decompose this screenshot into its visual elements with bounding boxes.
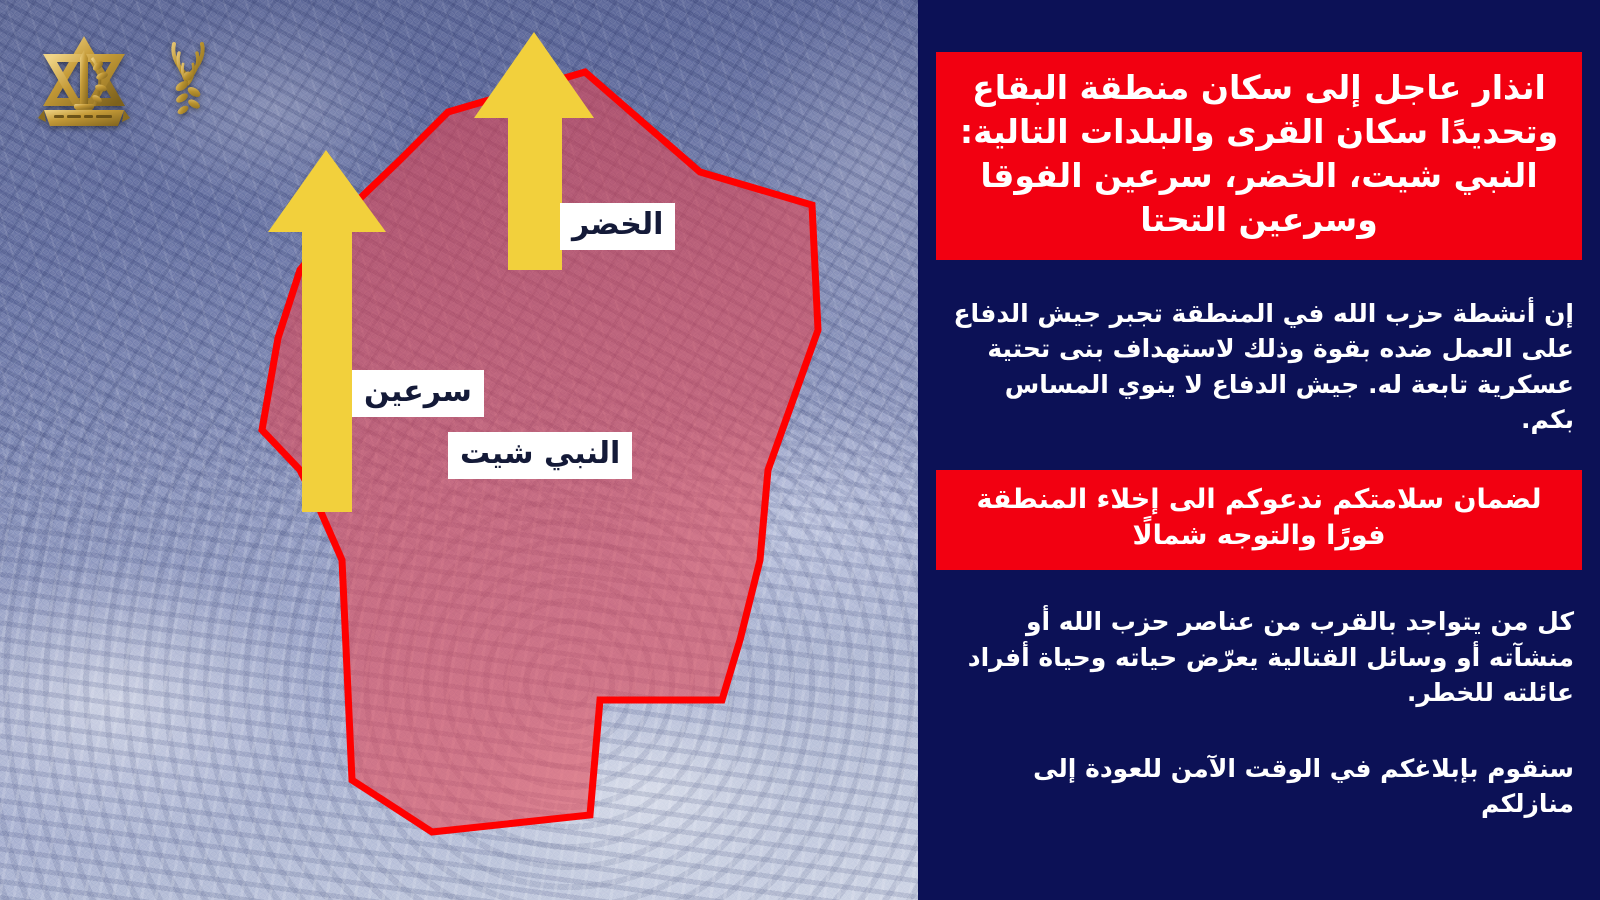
paragraph-safe-return: سنقوم بإبلاغكم في الوقت الآمن للعودة إلى… <box>936 751 1582 822</box>
map-label-nabi-sheet: النبي شيت <box>448 432 632 479</box>
paragraph-proximity-danger: كل من يتواجد بالقرب من عناصر حزب الله أو… <box>936 604 1582 711</box>
evacuation-warning-graphic: الخضر سرعين النبي شيت <box>0 0 1600 900</box>
headline-warning-banner: انذار عاجل إلى سكان منطقة البقاع وتحديدً… <box>936 52 1582 260</box>
map-label-sarain: سرعين <box>352 370 484 417</box>
warning-text-panel: انذار عاجل إلى سكان منطقة البقاع وتحديدً… <box>918 0 1600 900</box>
emblem-group <box>36 36 224 132</box>
emblem-ribbon-banner <box>38 110 130 126</box>
broadcast-antenna-olive-branch-emblem <box>152 36 224 132</box>
paragraph-hezbollah-activities: إن أنشطة حزب الله في المنطقة تجبر جيش ال… <box>936 296 1582 438</box>
map-label-alkhader: الخضر <box>560 203 675 250</box>
satellite-map-panel: الخضر سرعين النبي شيت <box>0 0 918 900</box>
evacuate-instruction-banner: لضمان سلامتكم ندعوكم الى إخلاء المنطقة ف… <box>936 470 1582 571</box>
idf-star-of-david-sword-olive-branch-emblem <box>36 36 132 132</box>
